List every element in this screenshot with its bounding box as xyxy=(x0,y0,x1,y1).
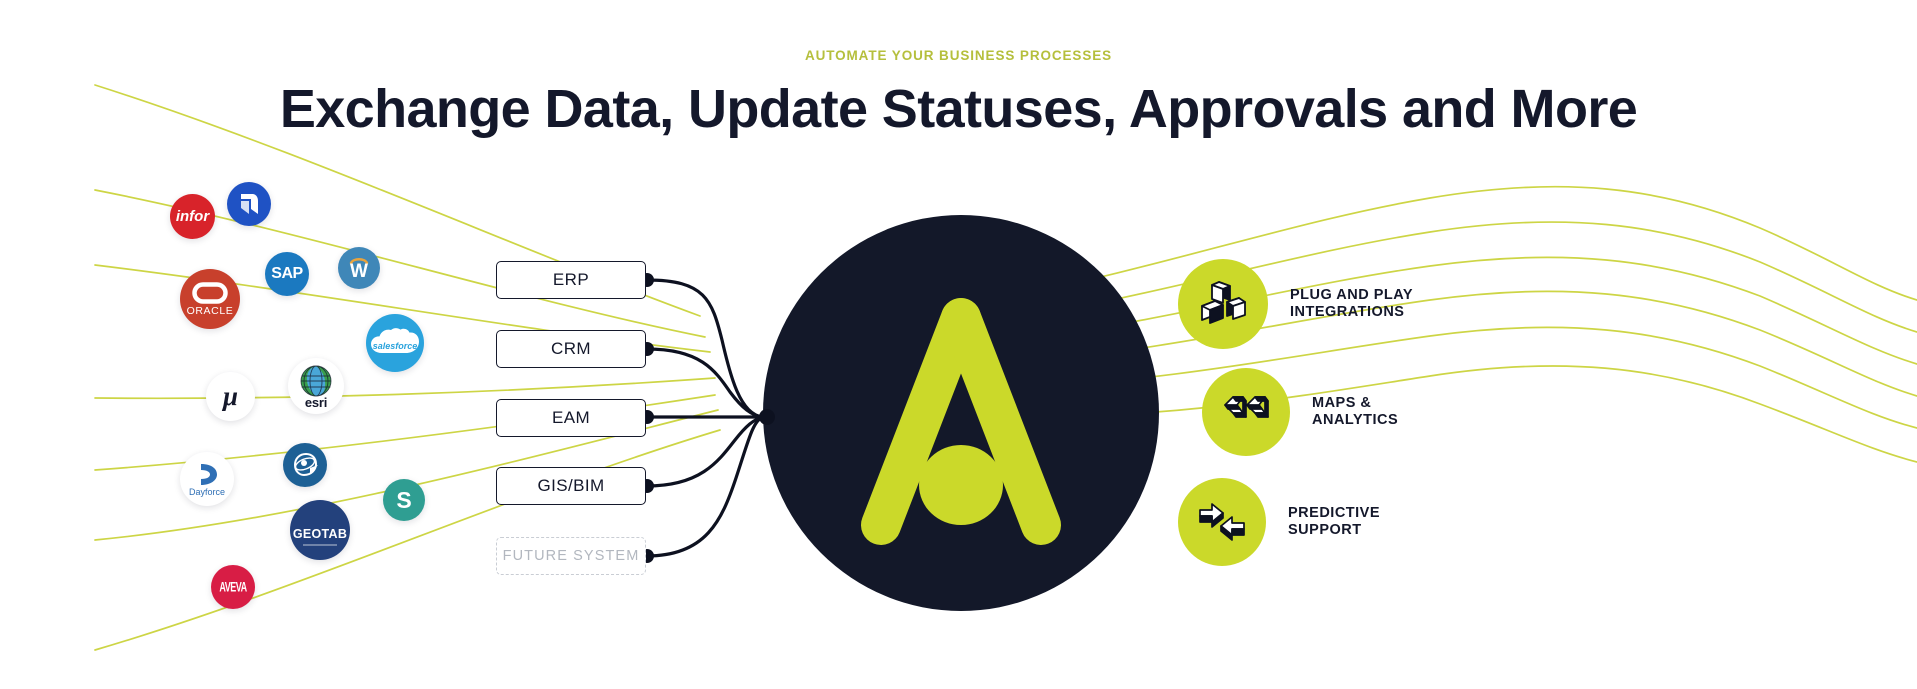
system-box-label: FUTURE SYSTEM xyxy=(503,548,640,564)
feature-label: PREDICTIVE SUPPORT xyxy=(1288,505,1380,539)
sap-logo-label: SAP xyxy=(271,266,302,282)
sage-logo[interactable]: S xyxy=(383,479,425,521)
system-box-eam[interactable]: EAM xyxy=(496,399,646,437)
esri-globe-icon xyxy=(299,364,333,398)
workday-logo-label: W xyxy=(350,263,368,280)
dayforce-logo[interactable]: Dayforce xyxy=(180,452,234,506)
page-title: Exchange Data, Update Statuses, Approval… xyxy=(0,78,1917,140)
hero-diagram: AUTOMATE YOUR BUSINESS PROCESSES Exchang… xyxy=(0,0,1917,689)
system-box-label: CRM xyxy=(551,339,591,359)
workday-logo[interactable]: W xyxy=(338,247,380,289)
feature-label: PLUG AND PLAY INTEGRATIONS xyxy=(1290,287,1413,321)
oracle-logo-label: ORACLE xyxy=(187,306,234,317)
feature-plug-and-play-integrations[interactable]: PLUG AND PLAY INTEGRATIONS xyxy=(1178,259,1413,349)
feature-icon-circle xyxy=(1202,368,1290,456)
sage-logo-label: S xyxy=(396,489,411,512)
bentley-logo[interactable] xyxy=(283,443,327,487)
system-box-crm[interactable]: CRM xyxy=(496,330,646,368)
salesforce-logo-label: salesforce xyxy=(373,342,418,351)
dayforce-d-icon xyxy=(194,461,220,487)
system-box-label: EAM xyxy=(552,408,590,428)
aveva-logo-label: AVEVA xyxy=(219,580,246,594)
compass-globe-icon xyxy=(291,452,319,478)
infor-logo-label: infor xyxy=(176,209,209,224)
eyebrow-text: AUTOMATE YOUR BUSINESS PROCESSES xyxy=(0,48,1917,63)
two-arrows-icon xyxy=(1196,499,1248,545)
chevron-blocks-icon xyxy=(1221,390,1271,434)
dynamics-glyph-icon xyxy=(238,192,260,216)
system-box-future-system[interactable]: FUTURE SYSTEM xyxy=(496,537,646,575)
geotab-logo[interactable]: GEOTAB xyxy=(290,500,350,560)
esri-logo-label: esri xyxy=(305,396,327,409)
feature-icon-circle xyxy=(1178,478,1266,566)
feature-maps-and-analytics[interactable]: MAPS & ANALYTICS xyxy=(1202,368,1398,456)
system-box-label: ERP xyxy=(553,270,589,290)
geotab-logo-label: GEOTAB xyxy=(293,528,347,541)
dayforce-logo-label: Dayforce xyxy=(189,488,225,497)
hero-heading-block: AUTOMATE YOUR BUSINESS PROCESSES Exchang… xyxy=(0,48,1917,140)
system-box-erp[interactable]: ERP xyxy=(496,261,646,299)
aveva-logo[interactable]: AVEVA xyxy=(211,565,255,609)
system-box-gis-bim[interactable]: GIS/BIM xyxy=(496,467,646,505)
sap-logo[interactable]: SAP xyxy=(265,252,309,296)
dynamics-logo[interactable] xyxy=(227,182,271,226)
geotab-tagline-rule xyxy=(303,544,337,546)
oracle-logo[interactable]: ORACLE xyxy=(180,269,240,329)
oracle-ring-icon xyxy=(192,282,228,304)
infor-logo[interactable]: infor xyxy=(170,194,215,239)
three-blocks-icon xyxy=(1197,278,1249,330)
maximo-logo-label: μ xyxy=(223,383,238,410)
esri-logo[interactable]: esri xyxy=(288,358,344,414)
feature-predictive-support[interactable]: PREDICTIVE SUPPORT xyxy=(1178,478,1380,566)
feature-icon-circle xyxy=(1178,259,1268,349)
feature-label: MAPS & ANALYTICS xyxy=(1312,395,1398,429)
salesforce-logo[interactable]: salesforce xyxy=(366,314,424,372)
maximo-logo[interactable]: μ xyxy=(206,372,255,421)
system-box-label: GIS/BIM xyxy=(537,476,604,496)
